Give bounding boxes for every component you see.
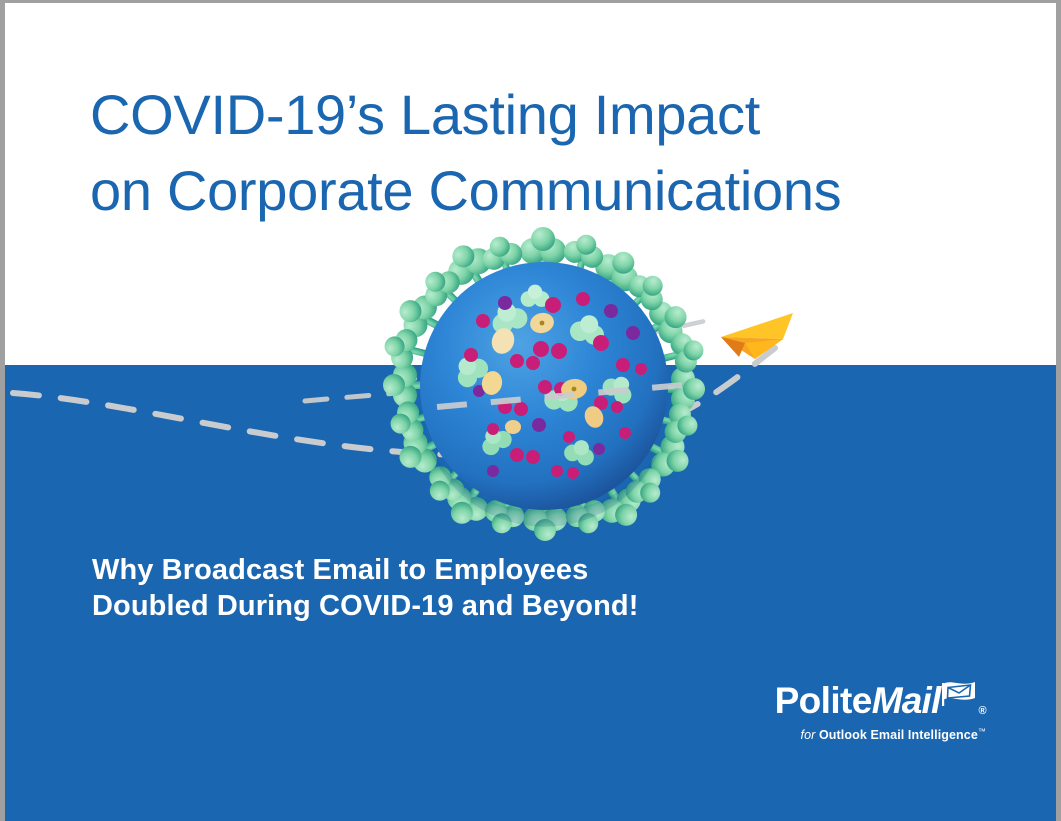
registered-trademark: ® — [978, 706, 986, 717]
cover-page: COVID-19’s Lasting Impact on Corporate C… — [0, 0, 1061, 821]
tagline-email: Email — [870, 728, 904, 742]
paper-airplane — [721, 313, 793, 359]
subtitle-line-2: Doubled During COVID-19 and Beyond! — [92, 588, 638, 624]
logo-word-polite: Polite — [775, 682, 872, 719]
page-title: COVID-19’s Lasting Impact on Corporate C… — [90, 77, 990, 229]
title-line-2: on Corporate Communications — [90, 153, 990, 229]
tagline-outlook: Outlook — [819, 728, 867, 742]
logo-wordmark: PoliteMail ® — [775, 676, 986, 719]
title-line-1: COVID-19’s Lasting Impact — [90, 77, 990, 153]
cover-subtitle: Why Broadcast Email to Employees Doubled… — [92, 552, 638, 624]
logo-tagline: for Outlook Email Intelligence™ — [775, 724, 986, 743]
tagline-trademark: ™ — [978, 727, 986, 736]
politemail-logo: PoliteMail ® for Outlook Email Intellige… — [775, 676, 986, 743]
logo-word-mail: Mail — [872, 682, 941, 719]
tagline-for: for — [801, 728, 816, 742]
subtitle-line-1: Why Broadcast Email to Employees — [92, 552, 638, 588]
tagline-intelligence: Intelligence — [908, 728, 978, 742]
flag-envelope-icon — [941, 676, 977, 713]
